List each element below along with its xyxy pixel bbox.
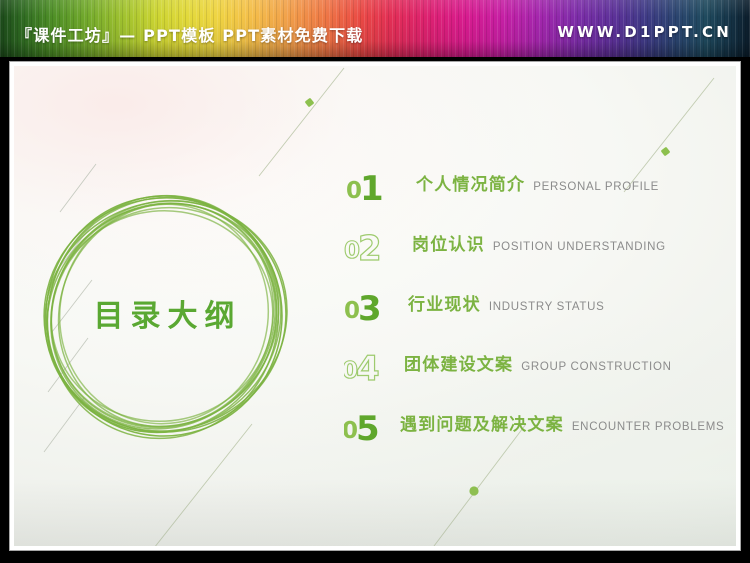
agenda-item[interactable]: 0 3 行业现状INDUSTRY STATUS (344, 282, 736, 342)
svg-text:5: 5 (356, 409, 380, 448)
agenda-list: 0 1 个人情况简介PERSONAL PROFILE 0 2 (344, 162, 736, 462)
banner-website-url[interactable]: WWW.D1PPT.CN (557, 23, 732, 41)
agenda-item-text: 团体建设文案GROUP CONSTRUCTION (404, 350, 672, 375)
agenda-number-01: 0 1 (344, 162, 406, 208)
presentation-screenshot: 『课件工坊』— PPT模板 PPT素材免费下载 WWW.D1PPT.CN (0, 0, 750, 563)
agenda-item-label-cn: 团体建设文案 (404, 355, 513, 375)
slide-frame: 目录大纲 0 1 个人情况简介PERSONAL PROFILE (10, 62, 740, 550)
sketch-circle-block: 目录大纲 (34, 186, 294, 446)
agenda-item-text: 遇到问题及解决文案ENCOUNTER PROBLEMS (400, 410, 724, 435)
site-banner: 『课件工坊』— PPT模板 PPT素材免费下载 WWW.D1PPT.CN (0, 0, 750, 57)
agenda-item[interactable]: 0 1 个人情况简介PERSONAL PROFILE (344, 162, 736, 222)
agenda-number-04: 0 4 (344, 342, 406, 388)
agenda-item-label-cn: 行业现状 (408, 295, 481, 315)
banner-title: 『课件工坊』— PPT模板 PPT素材免费下载 (16, 22, 363, 46)
svg-text:4: 4 (356, 349, 380, 388)
agenda-item-text: 行业现状INDUSTRY STATUS (408, 290, 605, 315)
svg-text:2: 2 (358, 229, 382, 268)
agenda-item-label-en: POSITION UNDERSTANDING (493, 241, 666, 253)
agenda-item-text: 个人情况简介PERSONAL PROFILE (416, 170, 659, 195)
agenda-item-label-cn: 岗位认识 (412, 235, 485, 255)
diagonal-dot-bottom-center (469, 486, 478, 495)
agenda-item-label-en: PERSONAL PROFILE (533, 181, 659, 193)
svg-text:3: 3 (358, 289, 382, 328)
agenda-item[interactable]: 0 4 团体建设文案GROUP CONSTRUCTION (344, 342, 736, 402)
agenda-item[interactable]: 0 5 遇到问题及解决文案ENCOUNTER PROBLEMS (344, 402, 736, 462)
diagonal-line-top-left (259, 68, 344, 176)
agenda-number-05: 0 5 (344, 402, 406, 448)
agenda-item-label-en: ENCOUNTER PROBLEMS (572, 421, 725, 433)
slide-heading: 目录大纲 (34, 291, 294, 335)
agenda-item-label-en: GROUP CONSTRUCTION (521, 361, 671, 373)
diagonal-dot-top-left (305, 98, 315, 108)
diagonal-dot-top-right (661, 147, 671, 157)
agenda-item-text: 岗位认识POSITION UNDERSTANDING (412, 230, 666, 255)
agenda-item-label-cn: 个人情况简介 (416, 175, 525, 195)
agenda-item-label-cn: 遇到问题及解决文案 (400, 415, 564, 435)
agenda-item-label-en: INDUSTRY STATUS (489, 301, 605, 313)
agenda-item[interactable]: 0 2 岗位认识POSITION UNDERSTANDING (344, 222, 736, 282)
agenda-number-03: 0 3 (344, 282, 406, 328)
agenda-number-02: 0 2 (344, 222, 406, 268)
svg-text:1: 1 (360, 169, 384, 208)
slide-canvas: 目录大纲 0 1 个人情况简介PERSONAL PROFILE (14, 66, 736, 546)
